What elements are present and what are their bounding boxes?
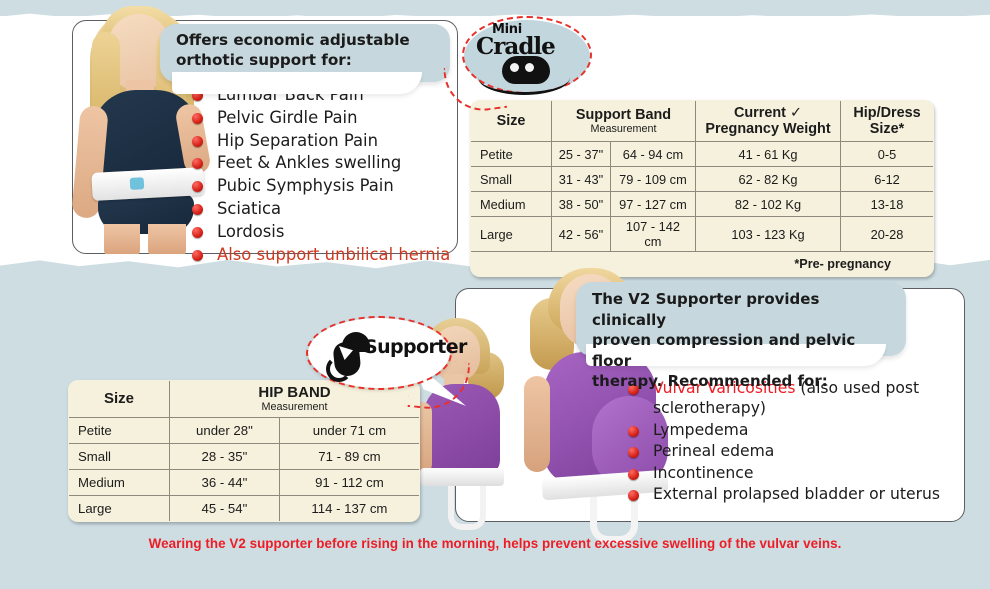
cell-weight: 41 - 61 Kg bbox=[696, 142, 841, 167]
cell-hip-dress: 13-18 bbox=[841, 192, 934, 217]
cell-inches: 42 - 56" bbox=[552, 217, 611, 252]
list-item: Feet & Ankles swelling bbox=[190, 152, 450, 174]
section2-headline-line1: The V2 Supporter provides clinically bbox=[592, 289, 892, 330]
v2-supporter-logo-bubble: Supporter bbox=[306, 316, 456, 394]
section1-headline-banner: Offers economic adjustable orthotic supp… bbox=[160, 24, 450, 82]
list-item-label: Pelvic Girdle Pain bbox=[217, 108, 358, 127]
section1-headline-line2: orthotic support for: bbox=[176, 51, 436, 71]
cell-inches: 25 - 37" bbox=[552, 142, 611, 167]
bullet-dot-icon bbox=[192, 250, 203, 261]
cell-cm: 107 - 142 cm bbox=[610, 217, 695, 252]
column-header-hip-band-sub: Measurement bbox=[175, 401, 414, 413]
v2-supporter-wordmark: Supporter bbox=[364, 336, 467, 358]
cell-inches: 36 - 44" bbox=[170, 470, 280, 496]
section2-headline-line3: therapy. Recommended for: bbox=[592, 371, 892, 392]
footer-note: Wearing the V2 supporter before rising i… bbox=[0, 536, 990, 551]
bullet-dot-icon bbox=[192, 181, 203, 192]
mini-cradle-logo-bubble: Mini Cradle bbox=[462, 16, 592, 100]
list-item-label: External prolapsed bladder or uterus bbox=[653, 485, 940, 503]
table-row: Medium 36 - 44" 91 - 112 cm bbox=[69, 470, 420, 496]
list-item: Pubic Symphysis Pain bbox=[190, 175, 450, 197]
list-item-label: Lordosis bbox=[217, 222, 284, 241]
table-header-row: Size Support Band Measurement Current ✓ … bbox=[471, 101, 934, 142]
table-row: Medium 38 - 50" 97 - 127 cm 82 - 102 Kg … bbox=[471, 192, 934, 217]
list-item-label: Pubic Symphysis Pain bbox=[217, 176, 394, 195]
section1-headline-text: Offers economic adjustable orthotic supp… bbox=[160, 24, 450, 70]
product-sheet-page: Offers economic adjustable orthotic supp… bbox=[0, 0, 990, 589]
table-row: Large 45 - 54" 114 - 137 cm bbox=[69, 496, 420, 522]
section1-headline-line1: Offers economic adjustable bbox=[176, 31, 436, 51]
bullet-dot-icon bbox=[192, 227, 203, 238]
bullet-dot-icon bbox=[192, 204, 203, 215]
list-item: Lympedema bbox=[626, 420, 946, 440]
list-item-label: Feet & Ankles swelling bbox=[217, 153, 401, 172]
list-item: External prolapsed bladder or uterus bbox=[626, 484, 946, 504]
cell-cm: 79 - 109 cm bbox=[610, 167, 695, 192]
cell-weight: 62 - 82 Kg bbox=[696, 167, 841, 192]
cell-inches: 45 - 54" bbox=[170, 496, 280, 522]
section2-headline-text: The V2 Supporter provides clinically pro… bbox=[576, 282, 906, 392]
bullet-dot-icon bbox=[192, 158, 203, 169]
cradle-swoosh-icon bbox=[478, 60, 570, 95]
banner-tail-shape bbox=[172, 72, 422, 94]
column-header-pregnancy-weight: Current ✓ Pregnancy Weight bbox=[696, 101, 841, 142]
cell-size: Small bbox=[69, 444, 170, 470]
section2-headline-banner: The V2 Supporter provides clinically pro… bbox=[576, 282, 906, 356]
bullet-dot-icon bbox=[628, 447, 639, 458]
table-row: Large 42 - 56" 107 - 142 cm 103 - 123 Kg… bbox=[471, 217, 934, 252]
column-header-support-band: Support Band Measurement bbox=[552, 101, 696, 142]
table-row: Petite under 28" under 71 cm bbox=[69, 418, 420, 444]
list-item: Perineal edema bbox=[626, 441, 946, 461]
cell-weight: 82 - 102 Kg bbox=[696, 192, 841, 217]
list-item: Lordosis bbox=[190, 221, 450, 243]
bullet-dot-icon bbox=[628, 469, 639, 480]
column-header-hip-dress-size: Hip/Dress Size* bbox=[841, 101, 934, 142]
cell-cm: under 71 cm bbox=[279, 418, 419, 444]
list-item-highlighted: Also support unbilical hernia bbox=[190, 244, 450, 266]
cell-cm: 71 - 89 cm bbox=[279, 444, 419, 470]
cell-size: Large bbox=[471, 217, 552, 252]
list-item-label: Perineal edema bbox=[653, 442, 774, 460]
column-header-weight-line1: Current bbox=[734, 105, 786, 121]
cell-size: Medium bbox=[69, 470, 170, 496]
list-item-label: Sciatica bbox=[217, 199, 281, 218]
cell-hip-dress: 20-28 bbox=[841, 217, 934, 252]
list-item-label: Hip Separation Pain bbox=[217, 131, 378, 150]
cell-cm: 114 - 137 cm bbox=[279, 496, 419, 522]
cell-inches: 31 - 43" bbox=[552, 167, 611, 192]
bullet-dot-icon bbox=[192, 113, 203, 124]
cell-size: Petite bbox=[69, 418, 170, 444]
list-item-label: Lympedema bbox=[653, 421, 748, 439]
list-item-label: Incontinence bbox=[653, 464, 753, 482]
list-item: Sciatica bbox=[190, 198, 450, 220]
bullet-dot-icon bbox=[192, 136, 203, 147]
column-header-hip-dress-line1: Hip/Dress bbox=[853, 105, 920, 121]
section1-benefit-list: Lumbar Back Pain Pelvic Girdle Pain Hip … bbox=[190, 84, 450, 266]
check-icon: ✓ bbox=[790, 105, 802, 121]
cell-weight: 103 - 123 Kg bbox=[696, 217, 841, 252]
cell-inches: 38 - 50" bbox=[552, 192, 611, 217]
cell-cm: 91 - 112 cm bbox=[279, 470, 419, 496]
list-item: Hip Separation Pain bbox=[190, 130, 450, 152]
column-header-size: Size bbox=[69, 381, 170, 418]
bullet-dot-icon bbox=[628, 426, 639, 437]
cell-size: Petite bbox=[471, 142, 552, 167]
hip-band-size-table: Size HIP BAND Measurement Petite under 2… bbox=[68, 380, 420, 522]
cell-hip-dress: 6-12 bbox=[841, 167, 934, 192]
list-item: Pelvic Girdle Pain bbox=[190, 107, 450, 129]
cell-size: Small bbox=[471, 167, 552, 192]
column-header-support-band-main: Support Band bbox=[576, 107, 671, 123]
bullet-dot-icon bbox=[628, 490, 639, 501]
cell-size: Medium bbox=[471, 192, 552, 217]
table-row: Small 31 - 43" 79 - 109 cm 62 - 82 Kg 6-… bbox=[471, 167, 934, 192]
list-item: Incontinence bbox=[626, 463, 946, 483]
section2-indication-list: Vulvar Varicosities (also used post scle… bbox=[626, 378, 946, 505]
cell-inches: under 28" bbox=[170, 418, 280, 444]
column-header-hip-dress-line2: Size* bbox=[870, 121, 904, 137]
cell-cm: 64 - 94 cm bbox=[610, 142, 695, 167]
table-row: Small 28 - 35" 71 - 89 cm bbox=[69, 444, 420, 470]
cell-cm: 97 - 127 cm bbox=[610, 192, 695, 217]
cell-hip-dress: 0-5 bbox=[841, 142, 934, 167]
section2-headline-line2: proven compression and pelvic floor bbox=[592, 330, 892, 371]
column-header-support-band-sub: Measurement bbox=[557, 123, 690, 135]
cell-inches: 28 - 35" bbox=[170, 444, 280, 470]
table-row: Petite 25 - 37" 64 - 94 cm 41 - 61 Kg 0-… bbox=[471, 142, 934, 167]
support-band-size-table: Size Support Band Measurement Current ✓ … bbox=[470, 100, 934, 277]
list-item-label: Also support unbilical hernia bbox=[217, 245, 450, 264]
column-header-weight-line2: Pregnancy Weight bbox=[705, 121, 830, 137]
cell-size: Large bbox=[69, 496, 170, 522]
